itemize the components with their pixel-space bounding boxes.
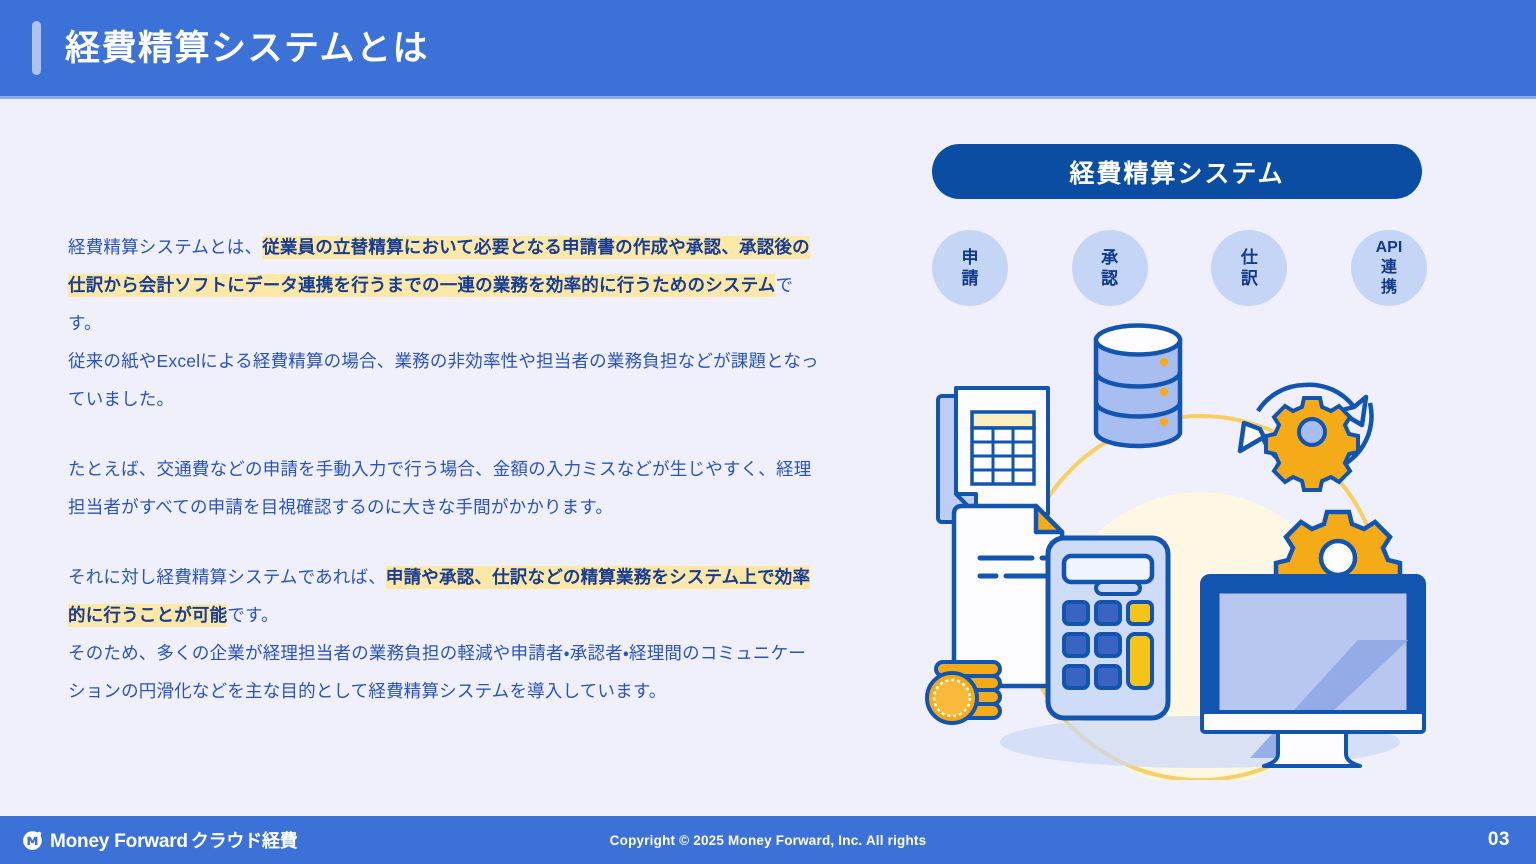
chip-line: 携 <box>1376 278 1403 298</box>
paragraph-2: 従来の紙やExcelによる経費精算の場合、業務の非効率性や担当者の業務負担などが… <box>68 342 820 418</box>
diagram-panel: 経費精算システム 申 請 承 認 仕 訳 <box>900 120 1460 780</box>
database-icon <box>1096 326 1180 447</box>
text-run: それに対し経費精算システムであれば、 <box>68 567 386 587</box>
calculator-icon <box>1048 538 1168 718</box>
chip-line: 仕 <box>1241 247 1258 268</box>
text-run: 経費精算システムとは、 <box>68 237 262 257</box>
text-run: 従来の紙やExcelによる経費精算の場合、業務の非効率性や担当者の業務負担などが… <box>68 351 819 409</box>
page-title: 経費精算システムとは <box>65 31 429 66</box>
paragraph-1: 経費精算システムとは、従業員の立替精算において必要となる申請書の作成や承認、承認… <box>68 228 820 342</box>
chip-api-integration: API 連 携 <box>1351 230 1427 306</box>
coin-stack-icon <box>927 662 1000 723</box>
title-accent-bar <box>32 21 41 75</box>
body-copy: 経費精算システムとは、従業員の立替精算において必要となる申請書の作成や承認、承認… <box>68 228 820 710</box>
paragraph-3: たとえば、交通費などの申請を手動入力で行う場合、金額の入力ミスなどが生じやすく、… <box>68 450 820 526</box>
chip-approval: 承 認 <box>1072 230 1148 306</box>
paragraph-spacer <box>68 418 820 450</box>
paragraph-spacer <box>68 526 820 558</box>
chip-journal: 仕 訳 <box>1211 230 1287 306</box>
text-run: です。 <box>227 605 278 625</box>
paragraph-5: そのため、多くの企業が経理担当者の業務負担の軽減や申請者・承認者・経理間のコミュ… <box>68 634 820 710</box>
paragraph-4: それに対し経費精算システムであれば、申請や承認、仕訳などの精算業務をシステム上で… <box>68 558 820 634</box>
chip-line: 承 <box>1101 247 1118 268</box>
slide-header: 経費精算システムとは <box>0 0 1536 96</box>
text-run: そのため、多くの企業が経理担当者の業務負担の軽減や申請者・承認者・経理間のコミュ… <box>68 643 806 701</box>
function-chip-row: 申 請 承 認 仕 訳 API 連 携 <box>932 230 1427 306</box>
slide-footer: Money Forwardクラウド経費 Copyright © 2025 Mon… <box>0 816 1536 864</box>
system-label-pill: 経費精算システム <box>932 144 1422 199</box>
chip-line: 訳 <box>1241 268 1258 289</box>
page-number: 03 <box>1488 829 1510 851</box>
copyright-text: Copyright © 2025 Money Forward, Inc. All… <box>0 833 1536 848</box>
chip-line: API <box>1376 238 1403 258</box>
chip-application: 申 請 <box>932 230 1008 306</box>
chip-line: 申 <box>962 247 979 268</box>
gear-sync-icon <box>1240 385 1372 490</box>
chip-line: 認 <box>1101 268 1118 289</box>
header-divider <box>0 96 1536 99</box>
slide: 経費精算システムとは 経費精算システムとは、従業員の立替精算において必要となる申… <box>0 0 1536 864</box>
chip-line: 連 <box>1376 258 1403 278</box>
system-illustration <box>900 310 1460 780</box>
text-run: たとえば、交通費などの申請を手動入力で行う場合、金額の入力ミスなどが生じやすく、… <box>68 459 811 517</box>
chip-line: 請 <box>962 268 979 289</box>
ledger-document-icon <box>938 388 1048 522</box>
